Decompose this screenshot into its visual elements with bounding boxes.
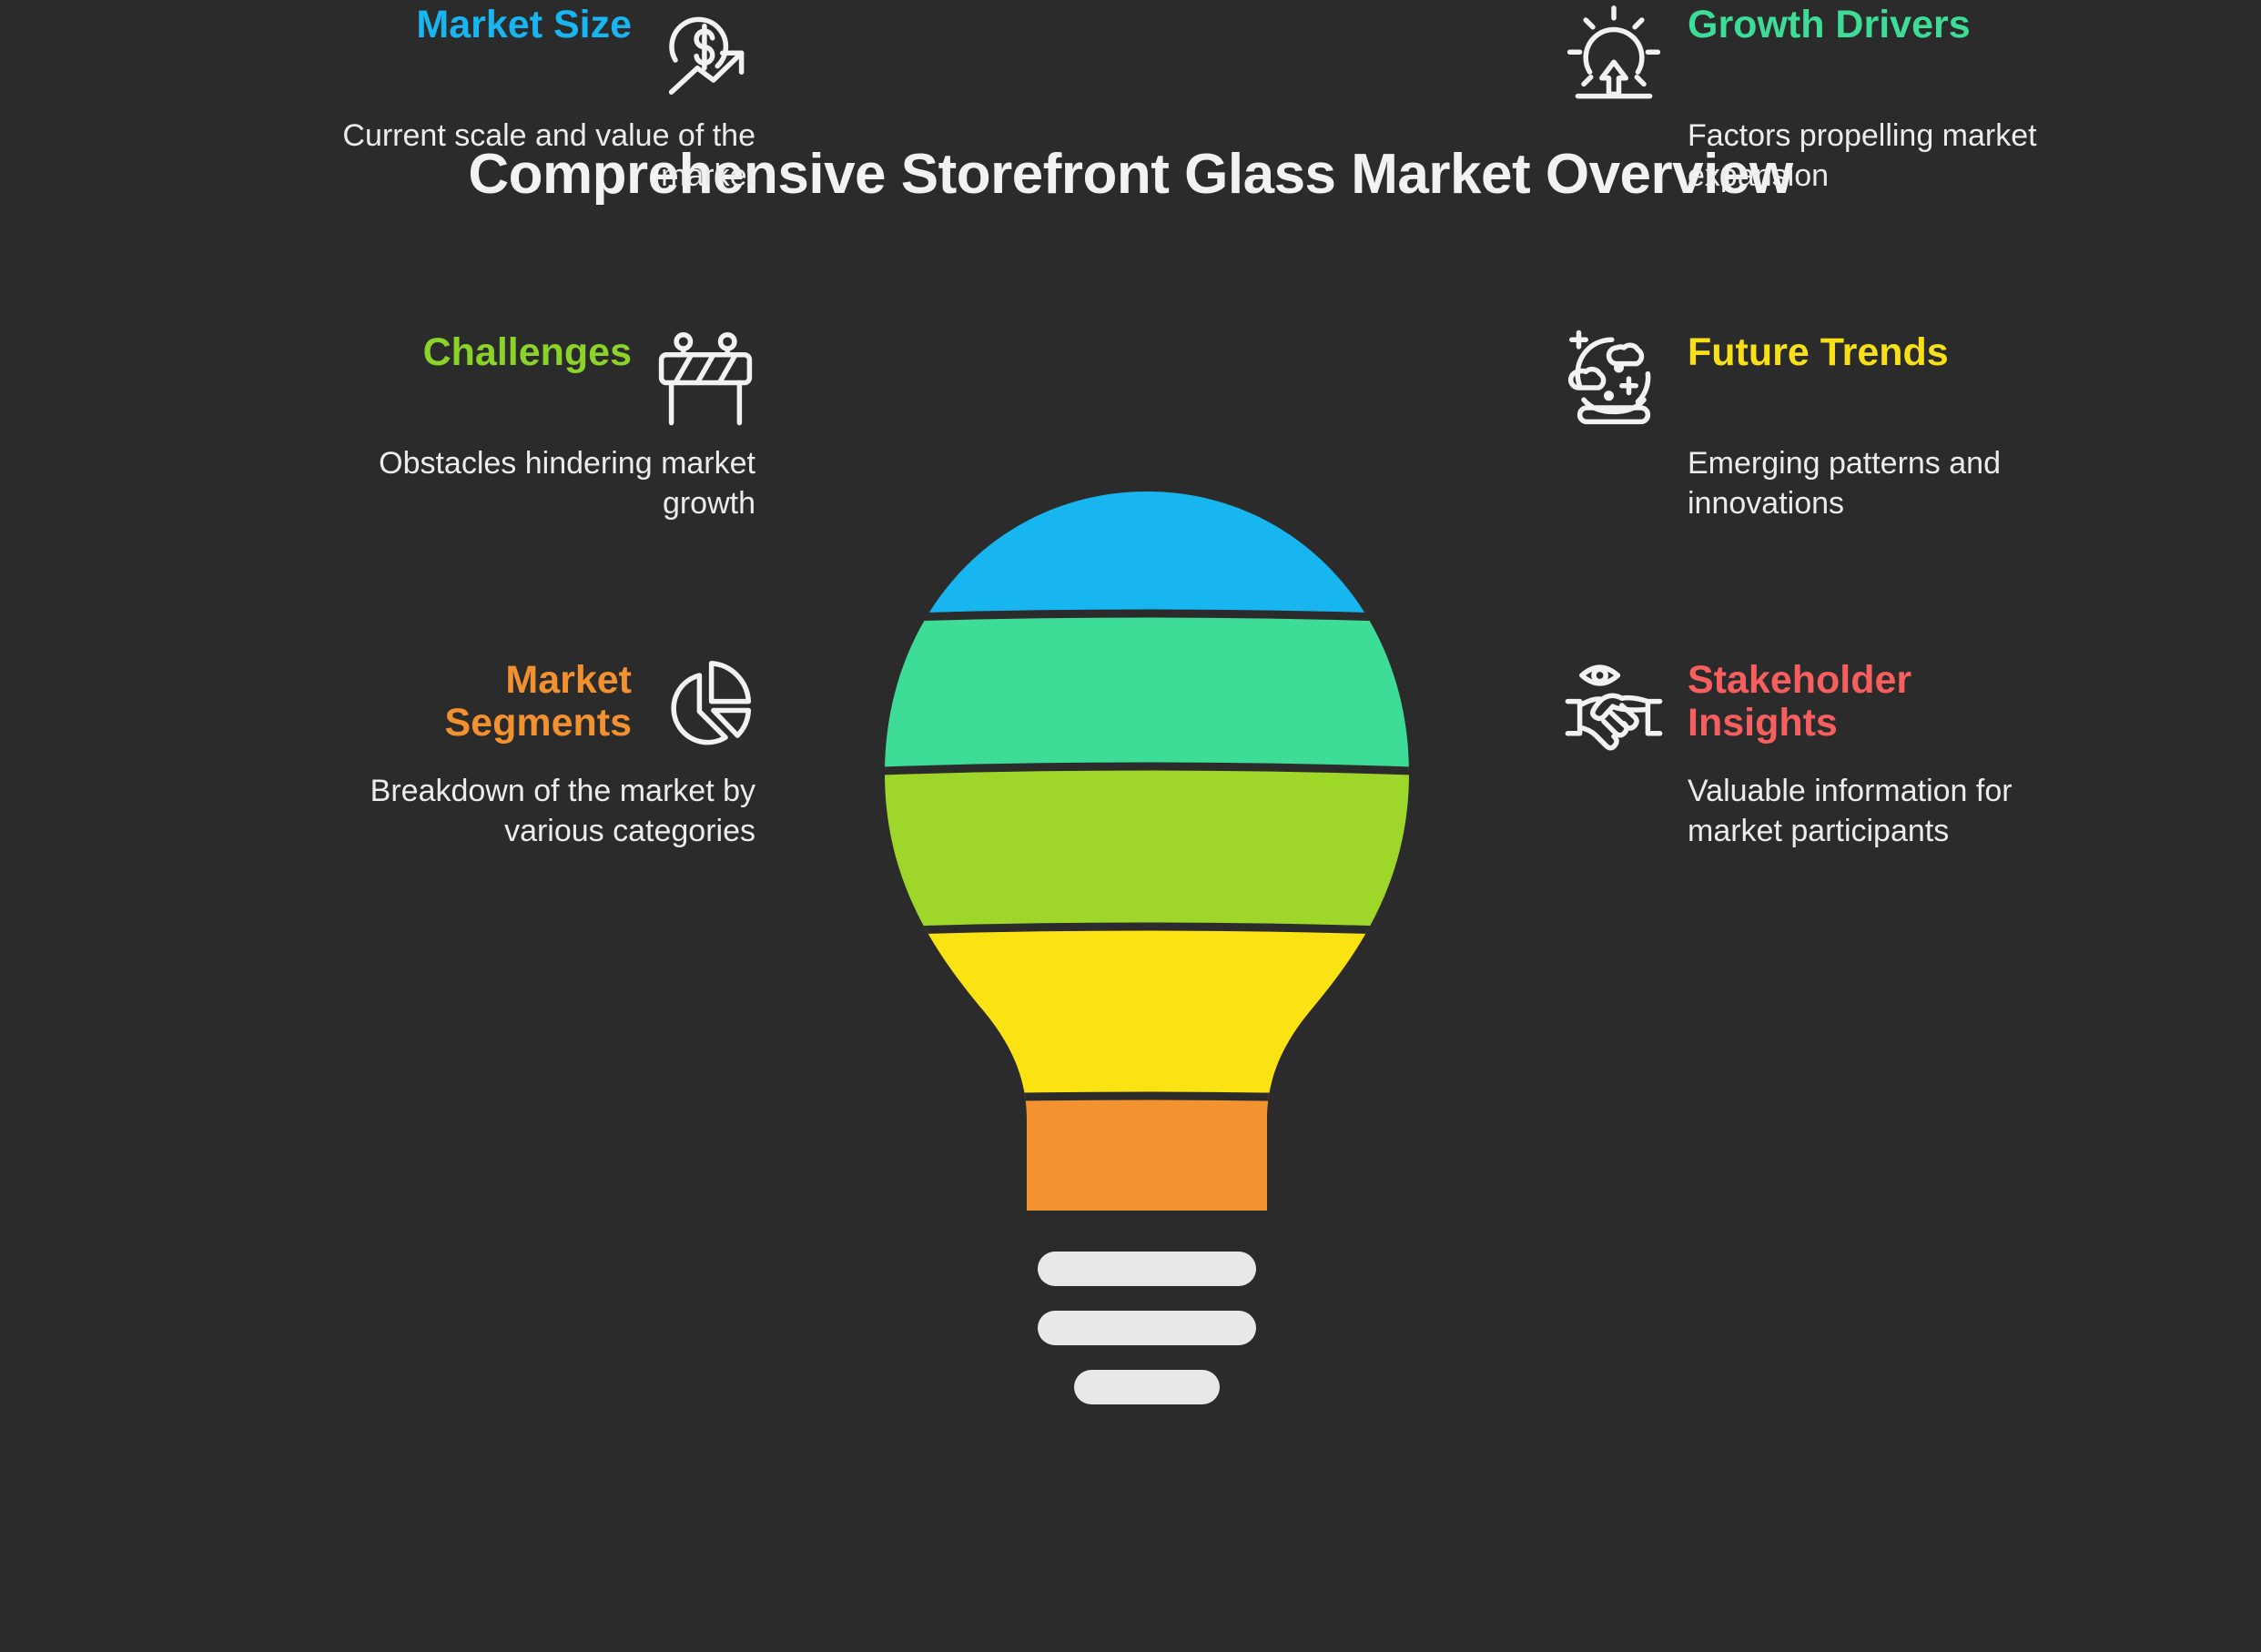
band-blue [865, 482, 1429, 617]
band-orange [865, 1100, 1429, 1227]
item-market-segments-title: Market Segments [395, 655, 632, 745]
bulb-screw-threads [1038, 1252, 1256, 1404]
sunburst-arrow-up-icon [1564, 0, 1664, 100]
item-growth-drivers-head: Growth Drivers [1564, 0, 2183, 100]
item-market-segments-description: Breakdown of the market by various categ… [337, 772, 755, 851]
item-growth-drivers-description: Factors propelling market expansion [1688, 117, 2106, 196]
infographic-canvas: Comprehensive Storefront Glass Market Ov… [0, 0, 2261, 1652]
item-growth-drivers-title: Growth Drivers [1688, 0, 1971, 46]
pie-chart-icon [655, 655, 755, 755]
item-future-trends-head: Future Trends [1564, 328, 2183, 428]
item-stakeholder-insights-title: Stakeholder Insights [1688, 655, 1988, 745]
item-market-size[interactable]: Market Size Current scale and value of t… [137, 0, 755, 196]
dollar-trend-icon [655, 0, 755, 100]
item-market-segments-head: Market Segments [137, 655, 755, 755]
item-stakeholder-insights-description: Valuable information for market particip… [1688, 772, 2106, 851]
item-challenges-title: Challenges [423, 328, 632, 374]
item-challenges-description: Obstacles hindering market growth [337, 444, 755, 523]
screw-bar-1 [1038, 1252, 1256, 1286]
item-challenges[interactable]: Challenges Obstacles hindering [137, 328, 755, 523]
item-market-size-head: Market Size [137, 0, 755, 100]
screw-bar-2 [1038, 1311, 1256, 1345]
band-yellow [865, 930, 1429, 1100]
band-lime [865, 770, 1429, 930]
item-future-trends-title: Future Trends [1688, 328, 1949, 374]
item-growth-drivers[interactable]: Growth Drivers Factors propelling market… [1564, 0, 2183, 196]
item-future-trends-description: Emerging patterns and innovations [1688, 444, 2106, 523]
crystal-ball-icon [1564, 328, 1664, 428]
screw-bar-3 [1074, 1370, 1220, 1404]
striped-lightbulb-graphic [865, 482, 1429, 1447]
item-market-size-description: Current scale and value of the market [337, 117, 755, 196]
road-barrier-icon [655, 328, 755, 428]
item-stakeholder-insights-head: Stakeholder Insights [1564, 655, 2183, 755]
item-challenges-head: Challenges [137, 328, 755, 428]
item-market-segments[interactable]: Market Segments Breakdown of the market … [137, 655, 755, 851]
eye-handshake-icon [1564, 655, 1664, 755]
item-stakeholder-insights[interactable]: Stakeholder Insights Valuable informatio… [1564, 655, 2183, 851]
band-mint [865, 617, 1429, 770]
item-future-trends[interactable]: Future Trends Emerging patterns and inno… [1564, 328, 2183, 523]
item-market-size-title: Market Size [416, 0, 632, 46]
